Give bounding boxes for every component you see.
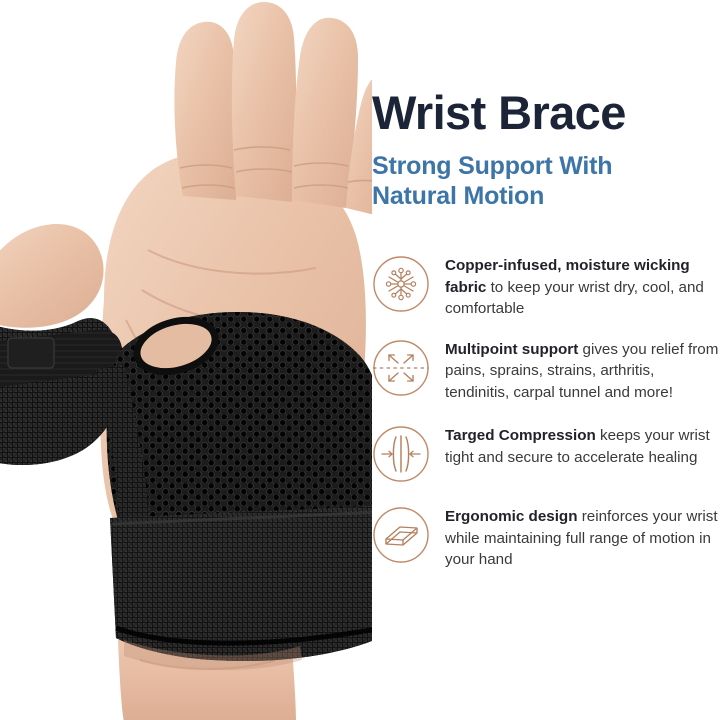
feature-list: Copper-infused, moisture wicking fabric …	[372, 253, 720, 571]
page-subtitle-line-1: Strong Support With	[372, 152, 612, 180]
molecule-snowflake-icon	[372, 255, 430, 313]
feature-text: Targed Compression keeps your wrist tigh…	[445, 423, 720, 468]
feature-item: Targed Compression keeps your wrist tigh…	[372, 423, 720, 483]
feature-lead: Ergonomic design	[445, 508, 577, 525]
feature-item: Multipoint support gives you relief from…	[372, 337, 720, 404]
page-title: Wrist Brace	[372, 88, 720, 138]
feature-text: Copper-infused, moisture wicking fabric …	[445, 253, 720, 320]
feature-item: Copper-infused, moisture wicking fabric …	[372, 253, 720, 320]
page-subtitle-line-2: Natural Motion	[372, 182, 544, 210]
multidirectional-arrows-icon	[372, 339, 430, 397]
page-subtitle: Strong Support With Natural Motion	[372, 151, 720, 211]
heading-block: Wrist Brace Strong Support With Natural …	[372, 88, 720, 211]
content-column: Wrist Brace Strong Support With Natural …	[372, 0, 720, 720]
compression-arrows-icon	[372, 425, 430, 483]
product-photo	[0, 0, 372, 720]
feature-text: Ergonomic design reinforces your wrist w…	[445, 504, 720, 571]
folded-fabric-icon	[372, 506, 430, 564]
feature-item: Ergonomic design reinforces your wrist w…	[372, 504, 720, 571]
feature-lead: Targed Compression	[445, 427, 596, 444]
feature-text: Multipoint support gives you relief from…	[445, 337, 720, 404]
infographic-page: Wrist Brace Strong Support With Natural …	[0, 0, 720, 720]
feature-lead: Multipoint support	[445, 341, 578, 358]
